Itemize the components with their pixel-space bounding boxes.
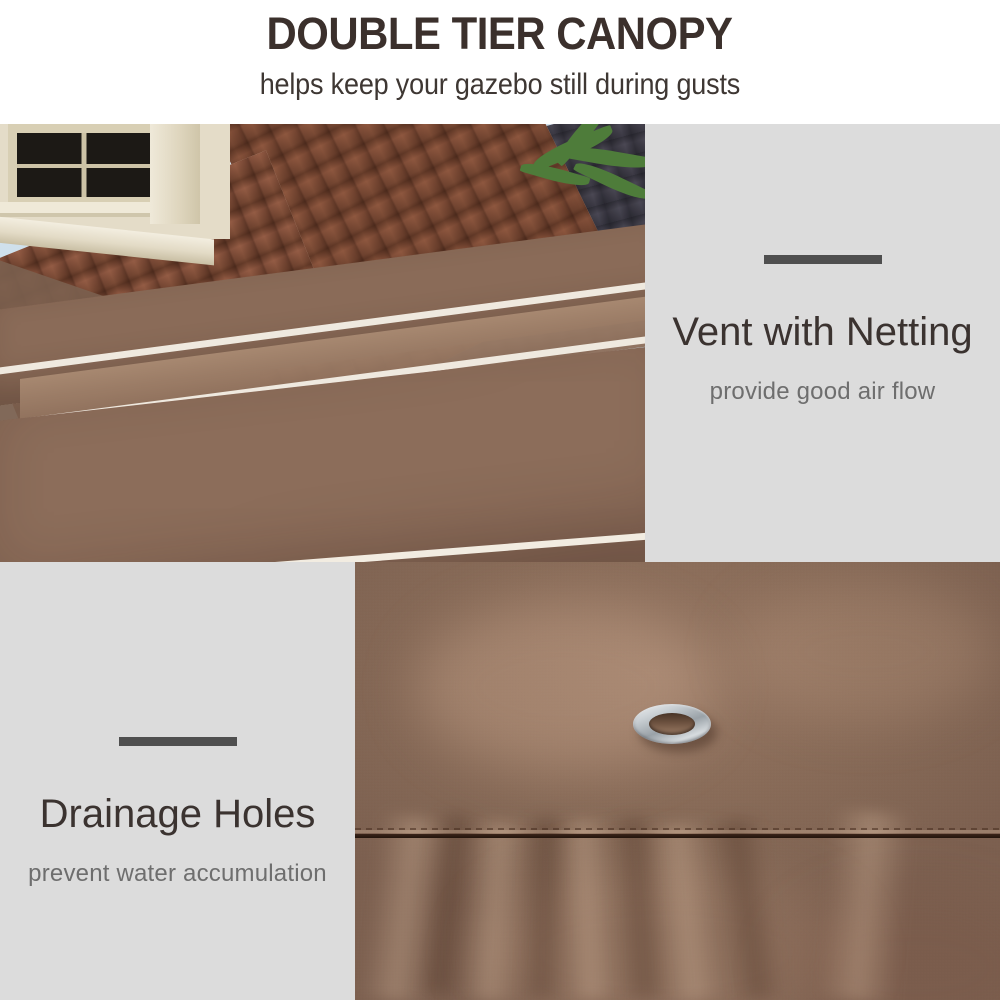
window — [8, 124, 160, 206]
header: DOUBLE TIER CANOPY helps keep your gazeb… — [0, 0, 1000, 124]
pillar — [150, 124, 200, 224]
feature-card-drainage-holes: Drainage Holes prevent water accumulatio… — [0, 562, 355, 1000]
divider-rule — [764, 255, 882, 264]
feature-caption: provide good air flow — [645, 377, 1000, 407]
feature-row-top: Vent with Netting provide good air flow — [0, 124, 1000, 562]
hem-seam — [355, 834, 1000, 838]
window-sill — [0, 202, 152, 213]
feature-title: Vent with Netting — [645, 309, 1000, 355]
fabric-sheen — [735, 582, 995, 722]
feature-row-bottom: Drainage Holes prevent water accumulatio… — [0, 562, 1000, 1000]
feature-caption: prevent water accumulation — [0, 859, 355, 889]
canopy-fabric-image — [355, 562, 1000, 1000]
product-feature-graphic: DOUBLE TIER CANOPY helps keep your gazeb… — [0, 0, 1000, 1000]
gazebo-canopy-photo — [0, 124, 645, 562]
gazebo-canopy-image — [0, 124, 645, 562]
palm-tree — [520, 124, 645, 230]
fabric-fold-shadow — [520, 817, 568, 998]
hem-highlight — [355, 830, 1000, 833]
drainage-grommet — [633, 704, 711, 744]
house-wall — [0, 124, 230, 239]
feature-card-vent-with-netting: Vent with Netting provide good air flow — [645, 124, 1000, 562]
fabric-grommet-photo — [355, 562, 1000, 1000]
page-subtitle: helps keep your gazebo still during gust… — [260, 68, 740, 102]
divider-rule — [119, 737, 237, 746]
stitch-line — [355, 828, 1000, 830]
palm-frond — [559, 142, 645, 173]
feature-title: Drainage Holes — [0, 791, 355, 837]
grommet-hole — [649, 713, 695, 735]
page-title: DOUBLE TIER CANOPY — [267, 9, 733, 59]
